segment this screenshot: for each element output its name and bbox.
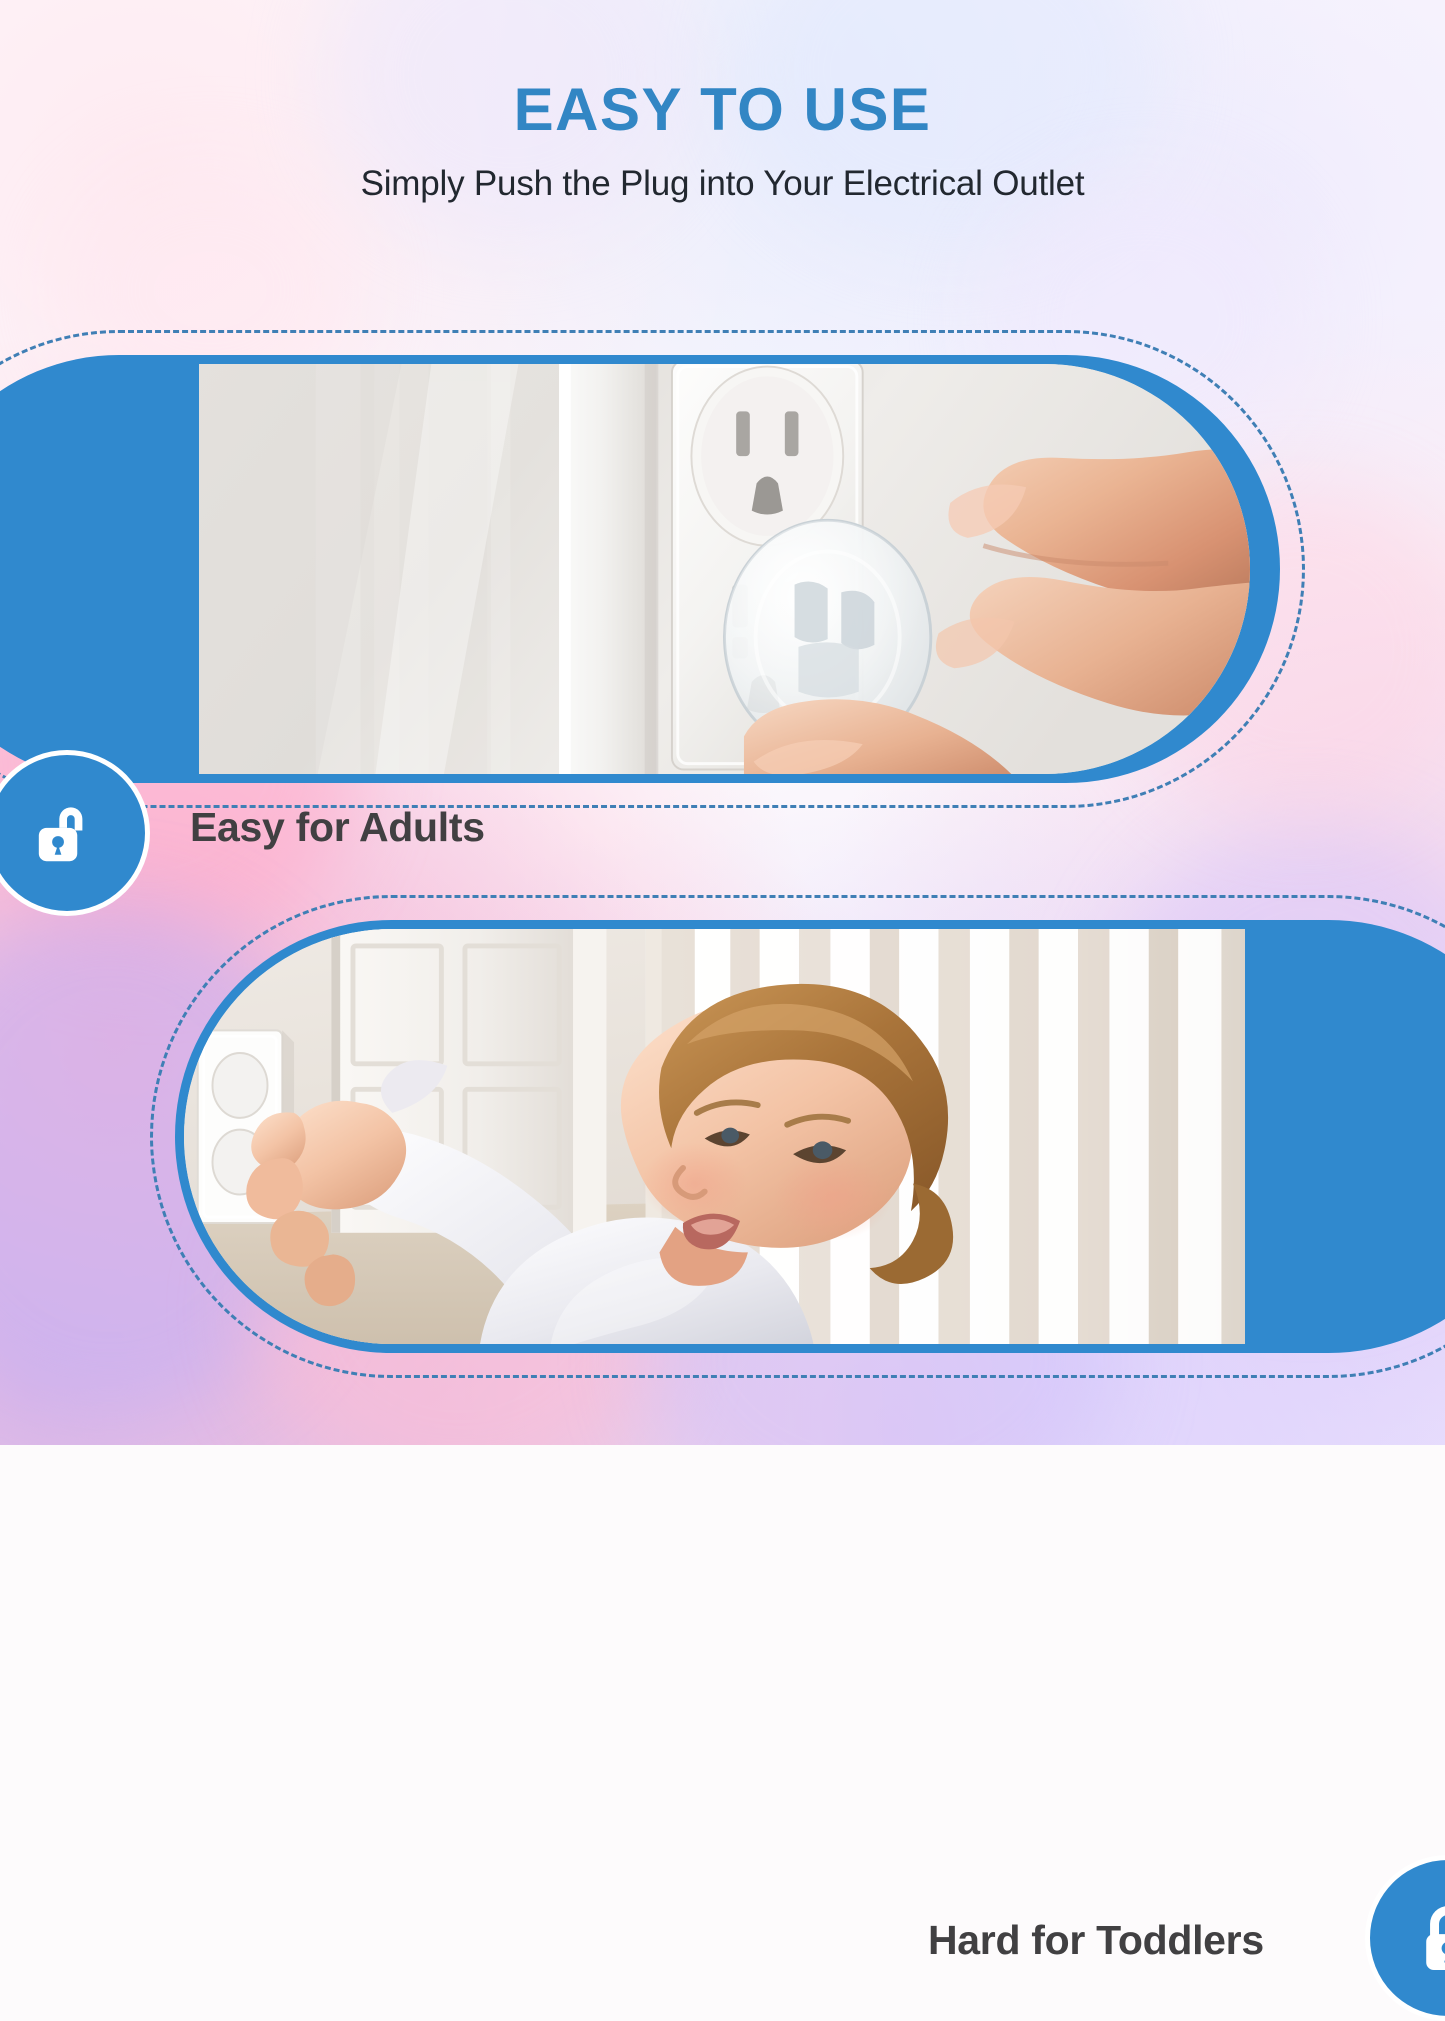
photo-toddler-reaching-outlet	[184, 929, 1245, 1344]
card-easy-for-adults: Easy for Adults	[0, 330, 1305, 808]
card-blue-frame	[0, 355, 1280, 783]
lock-badge	[1365, 1855, 1445, 2021]
card-label-easy-for-adults: Easy for Adults	[190, 804, 485, 851]
card-hard-for-toddlers: Hard for Toddlers	[150, 895, 1445, 1378]
unlock-icon	[26, 792, 108, 874]
header: EASY TO USE Simply Push the Plug into Yo…	[0, 78, 1445, 204]
page-subtitle: Simply Push the Plug into Your Electrica…	[0, 164, 1445, 204]
lock-icon	[1407, 1897, 1445, 1979]
card-blue-frame	[175, 920, 1445, 1353]
card-label-hard-for-toddlers: Hard for Toddlers	[928, 1917, 1264, 1964]
page-title: EASY TO USE	[0, 78, 1445, 142]
photo-adult-inserting-plug-cover	[199, 364, 1250, 774]
